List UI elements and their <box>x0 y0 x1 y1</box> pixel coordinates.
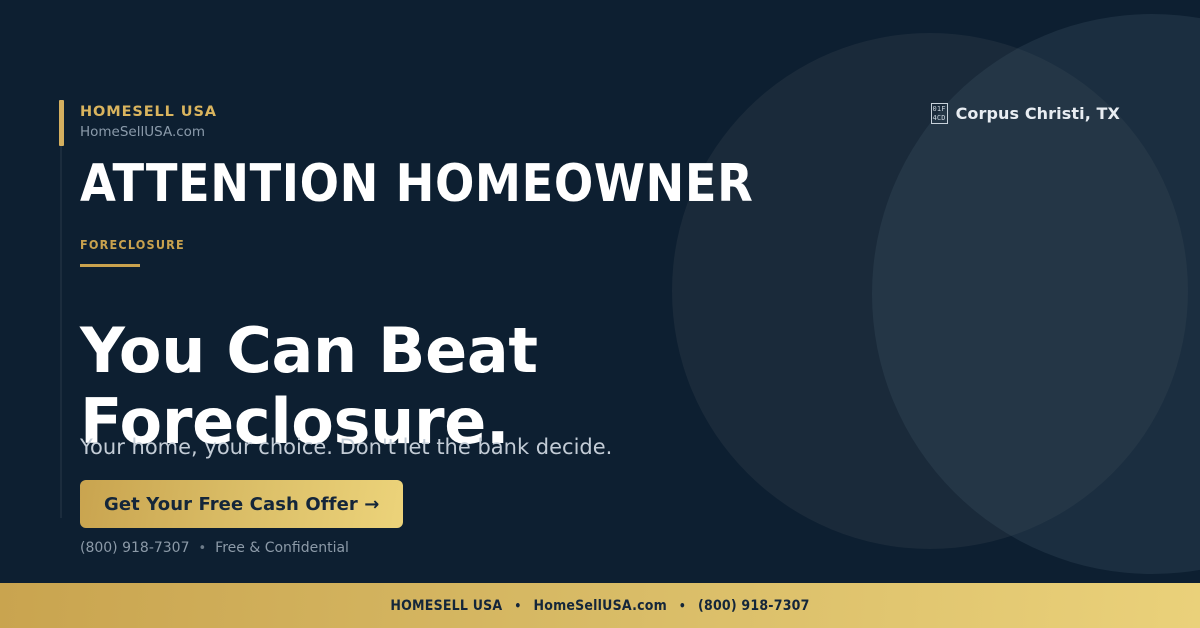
brand-url: HomeSellUSA.com <box>80 125 217 141</box>
footer-separator-one: • <box>514 599 521 613</box>
eyebrow-block: FORECLOSURE <box>80 238 185 267</box>
trust-note: Free & Confidential <box>215 540 349 556</box>
footer-phone[interactable]: (800) 918-7307 <box>698 598 810 614</box>
brand-block: HOMESELL USA HomeSellUSA.com <box>80 104 217 140</box>
location-badge: 01F 4CD Corpus Christi, TX <box>931 103 1120 124</box>
footer-url[interactable]: HomeSellUSA.com <box>533 598 666 614</box>
content-area: HOMESELL USA HomeSellUSA.com 01F 4CD Cor… <box>80 0 1120 583</box>
location-pin-icon: 01F 4CD <box>931 103 948 124</box>
footer-bar: HOMESELL USA • HomeSellUSA.com • (800) 9… <box>0 583 1200 628</box>
footer-separator-two: • <box>679 599 686 613</box>
brand-name: HOMESELL USA <box>80 104 217 121</box>
cta-button[interactable]: Get Your Free Cash Offer → <box>80 480 403 528</box>
left-rail-line <box>60 146 62 518</box>
subheadline: Your home, your choice. Don't let the ba… <box>80 434 612 461</box>
trust-separator: • <box>199 541 207 556</box>
left-rail-accent <box>59 100 64 146</box>
trust-line: (800) 918-7307 • Free & Confidential <box>80 540 349 556</box>
attention-headline: ATTENTION HOMEOWNER <box>80 158 753 210</box>
ad-banner: HOMESELL USA HomeSellUSA.com 01F 4CD Cor… <box>0 0 1200 628</box>
location-label: Corpus Christi, TX <box>956 104 1120 123</box>
eyebrow-label: FORECLOSURE <box>80 238 185 252</box>
eyebrow-rule <box>80 264 140 267</box>
footer-brand: HOMESELL USA <box>390 598 502 614</box>
trust-phone[interactable]: (800) 918-7307 <box>80 540 190 556</box>
